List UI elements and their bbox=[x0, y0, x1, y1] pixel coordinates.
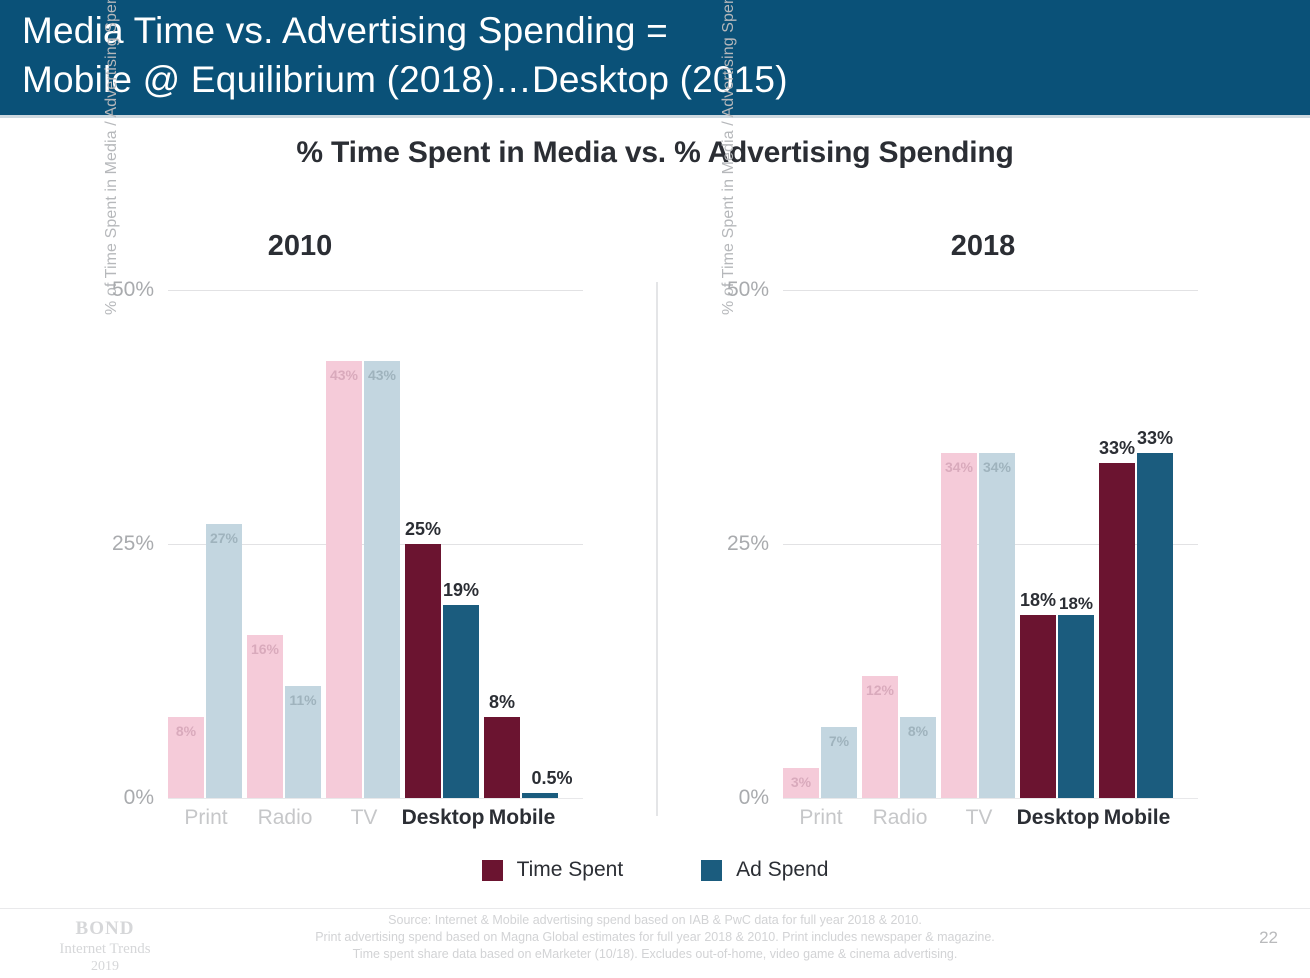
bar-group-print: 8% 27% Print bbox=[168, 290, 252, 798]
slide-title-line1: Media Time vs. Advertising Spending = bbox=[22, 6, 1310, 55]
gridline-0: 0% bbox=[168, 798, 583, 799]
bar-group-desktop: 18% 18% Desktop bbox=[1020, 290, 1104, 798]
bar-label-desktop-ad-spend: 19% bbox=[431, 580, 491, 601]
bar-label-radio-ad-spend: 8% bbox=[888, 723, 948, 739]
y-tick-25: 25% bbox=[727, 532, 769, 556]
bar-print-ad-spend: 7% bbox=[821, 727, 857, 798]
bar-label-desktop-time-spent: 25% bbox=[393, 519, 453, 540]
bar-print-time-spent: 3% bbox=[783, 768, 819, 798]
bar-label-tv-ad-spend: 34% bbox=[967, 459, 1027, 475]
legend-label-ad-spend: Ad Spend bbox=[736, 858, 828, 882]
bond-logo: BOND Internet Trends 2019 bbox=[30, 918, 180, 975]
y-tick-25: 25% bbox=[112, 532, 154, 556]
bond-logo-year: 2019 bbox=[30, 959, 180, 975]
bar-label-radio-time-spent: 12% bbox=[850, 682, 910, 698]
bar-print-ad-spend: 27% bbox=[206, 524, 242, 798]
bar-group-mobile: 33% 33% Mobile bbox=[1099, 290, 1183, 798]
y-tick-50: 50% bbox=[727, 278, 769, 302]
bar-label-mobile-ad-spend: 0.5% bbox=[522, 768, 582, 789]
bar-label-radio-time-spent: 16% bbox=[235, 641, 295, 657]
slide-header: Media Time vs. Advertising Spending = Mo… bbox=[0, 0, 1310, 115]
legend-swatch-ad-spend bbox=[701, 860, 722, 881]
x-label-mobile: Mobile bbox=[1077, 806, 1197, 830]
bar-tv-time-spent: 43% bbox=[326, 361, 362, 798]
chart-title: % Time Spent in Media vs. % Advertising … bbox=[0, 136, 1310, 170]
gridline-0: 0% bbox=[783, 798, 1198, 799]
header-divider bbox=[0, 115, 1310, 118]
panel-divider bbox=[656, 282, 658, 816]
legend-item-ad-spend: Ad Spend bbox=[701, 858, 828, 882]
source-line-1: Source: Internet & Mobile advertising sp… bbox=[0, 912, 1310, 929]
legend-swatch-time-spent bbox=[482, 860, 503, 881]
bar-label-radio-ad-spend: 11% bbox=[273, 692, 333, 708]
chart-panel-2018: 2018 % of Time Spent in Media / Advertis… bbox=[705, 230, 1305, 830]
source-line-2: Print advertising spend based on Magna G… bbox=[0, 929, 1310, 946]
bar-group-mobile: 8% 0.5% Mobile bbox=[484, 290, 568, 798]
bar-group-tv: 34% 34% TV bbox=[941, 290, 1025, 798]
bar-radio-time-spent: 16% bbox=[247, 635, 283, 798]
bond-logo-subtitle: Internet Trends bbox=[30, 941, 180, 958]
panel-title-2010: 2010 bbox=[0, 230, 600, 263]
source-line-3: Time spent share data based on eMarketer… bbox=[0, 946, 1310, 963]
bar-label-mobile-ad-spend: 33% bbox=[1125, 428, 1185, 449]
bar-tv-ad-spend: 34% bbox=[979, 453, 1015, 798]
bar-label-tv-ad-spend: 43% bbox=[352, 367, 412, 383]
plot-area-2010: 50% 25% 0% 8% 27% Print 16% 11% Radi bbox=[168, 290, 583, 798]
y-axis-label-2018: % of Time Spent in Media / Advertising S… bbox=[720, 0, 742, 315]
bar-group-print: 3% 7% Print bbox=[783, 290, 867, 798]
bar-label-desktop-ad-spend: 18% bbox=[1046, 594, 1106, 614]
bar-desktop-time-spent: 18% bbox=[1020, 615, 1056, 798]
bar-label-mobile-time-spent: 8% bbox=[472, 692, 532, 713]
panel-title-2018: 2018 bbox=[683, 230, 1283, 263]
bar-radio-ad-spend: 11% bbox=[285, 686, 321, 798]
bar-label-print-ad-spend: 27% bbox=[194, 530, 254, 546]
source-note: Source: Internet & Mobile advertising sp… bbox=[0, 912, 1310, 963]
bar-label-print-ad-spend: 7% bbox=[809, 733, 869, 749]
bond-logo-name: BOND bbox=[30, 918, 180, 940]
y-tick-50: 50% bbox=[112, 278, 154, 302]
slide-title-line2: Mobile @ Equilibrium (2018)…Desktop (201… bbox=[22, 55, 1310, 104]
footer-divider bbox=[0, 908, 1310, 909]
bar-mobile-ad-spend: 0.5% bbox=[522, 793, 558, 798]
page-number: 22 bbox=[1259, 928, 1278, 948]
y-axis-label-2010: % of Time Spent in Media / Advertising S… bbox=[103, 0, 125, 315]
legend-label-time-spent: Time Spent bbox=[517, 858, 624, 882]
bar-group-tv: 43% 43% TV bbox=[326, 290, 410, 798]
bar-tv-ad-spend: 43% bbox=[364, 361, 400, 798]
chart-panel-2010: 2010 % of Time Spent in Media / Advertis… bbox=[90, 230, 690, 830]
bar-group-desktop: 25% 19% Desktop bbox=[405, 290, 489, 798]
x-label-mobile: Mobile bbox=[462, 806, 582, 830]
bar-mobile-time-spent: 8% bbox=[484, 717, 520, 798]
plot-area-2018: 50% 25% 0% 3% 7% Print 12% 8% Radio bbox=[783, 290, 1198, 798]
bar-desktop-ad-spend: 18% bbox=[1058, 615, 1094, 798]
bar-mobile-time-spent: 33% bbox=[1099, 463, 1135, 798]
legend-item-time-spent: Time Spent bbox=[482, 858, 624, 882]
bar-tv-time-spent: 34% bbox=[941, 453, 977, 798]
bar-radio-ad-spend: 8% bbox=[900, 717, 936, 798]
bar-group-radio: 12% 8% Radio bbox=[862, 290, 946, 798]
bar-mobile-ad-spend: 33% bbox=[1137, 453, 1173, 798]
bar-print-time-spent: 8% bbox=[168, 717, 204, 798]
chart-legend: Time Spent Ad Spend bbox=[0, 858, 1310, 882]
